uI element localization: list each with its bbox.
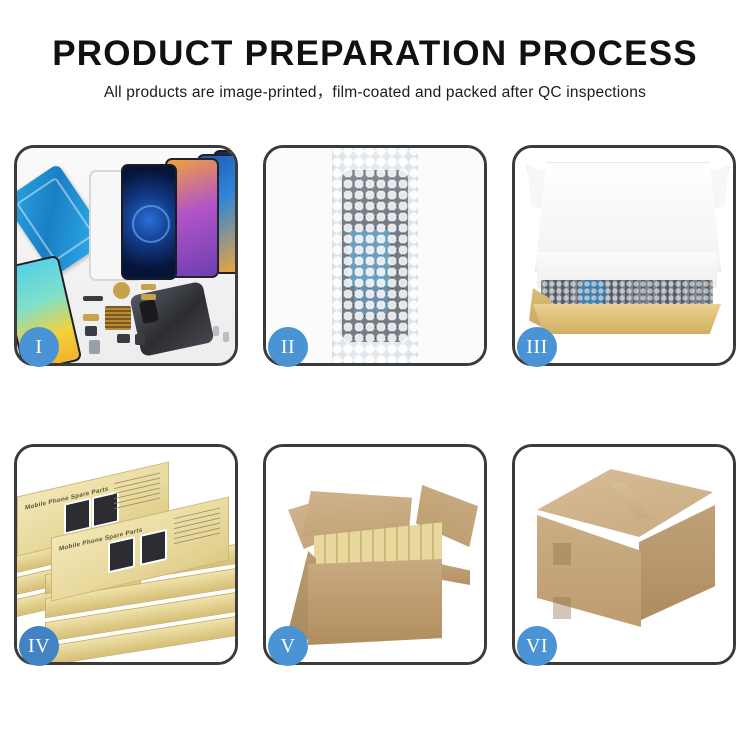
carton-front-panel (308, 559, 442, 645)
speaker-part (117, 334, 130, 343)
connector-grid-part (105, 306, 131, 330)
header: PRODUCT PREPARATION PROCESS All products… (0, 0, 750, 103)
wrapped-product-in-box (541, 280, 713, 308)
screw-part-1 (213, 326, 219, 336)
box-window-front-2 (140, 529, 167, 566)
step-badge-2: II (268, 327, 308, 367)
bubble-wrap-bag (332, 148, 418, 363)
page-subtitle: All products are image-printed，film-coat… (0, 83, 750, 103)
bubble-texture (332, 148, 418, 363)
page-title: PRODUCT PREPARATION PROCESS (0, 34, 750, 74)
screw-part-2 (223, 332, 229, 342)
sim-tray-part (89, 340, 100, 354)
step-badge-1: I (19, 327, 59, 367)
box-front-panel (533, 304, 721, 334)
step-badge-3: III (517, 327, 557, 367)
step-badge-6: VI (517, 626, 557, 666)
box-spec-lines-front (174, 508, 220, 549)
flex-cable-part-1 (141, 284, 156, 290)
process-step-grid: I II III (14, 145, 736, 665)
phone-screen-dark-blue (121, 164, 177, 280)
vibrator-part (135, 334, 145, 345)
infographic-page: PRODUCT PREPARATION PROCESS All products… (0, 0, 750, 750)
camera-module-part (113, 282, 130, 299)
process-step-panel-2: II (263, 145, 487, 366)
carton-seam-lower (553, 597, 571, 619)
step-badge-4: IV (19, 626, 59, 666)
small-ic-part (85, 326, 97, 336)
carton-seam-upper (553, 543, 571, 565)
process-step-panel-4: Mobile Phone Spare Parts Mobile Phone Sp… (14, 444, 238, 665)
process-step-panel-5: V (263, 444, 487, 665)
process-step-panel-6: VI (512, 444, 736, 665)
flex-cable-part-2 (141, 294, 156, 300)
box-spec-lines-rear (114, 473, 160, 514)
step-badge-5: V (268, 626, 308, 666)
box-window-front-1 (108, 536, 135, 573)
earpiece-mesh-part (83, 296, 103, 301)
process-step-panel-1: I (14, 145, 238, 366)
process-step-panel-3: III (512, 145, 736, 366)
flex-cable-part-3 (83, 314, 99, 321)
phone-back-housing (129, 281, 214, 357)
